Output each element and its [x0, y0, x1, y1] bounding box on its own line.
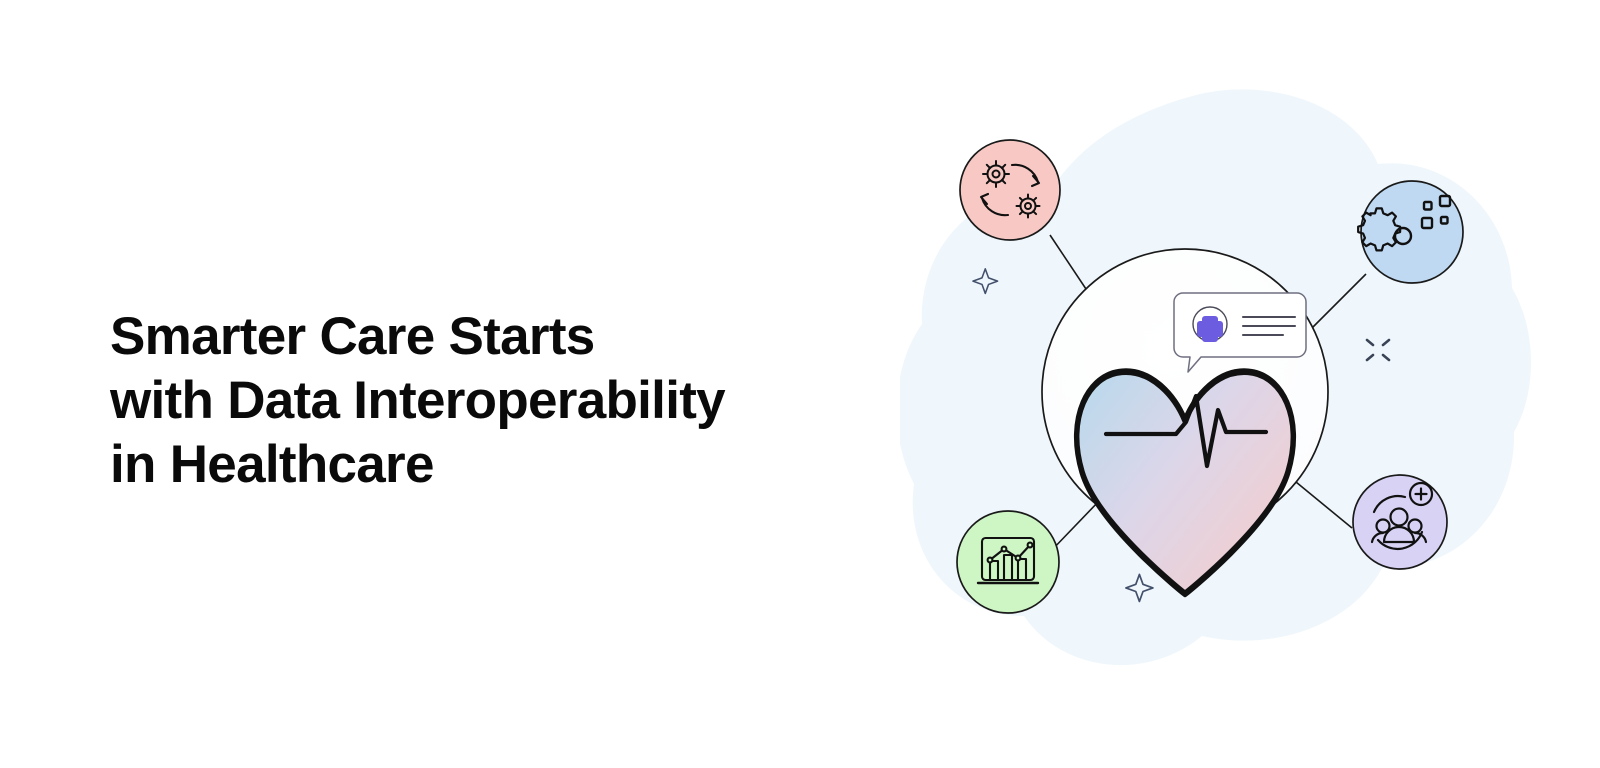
node-patients[interactable] — [1353, 475, 1447, 569]
node-analytics[interactable] — [957, 511, 1059, 613]
hero-copy: Smarter Care Starts with Data Interopera… — [110, 305, 810, 497]
node-sync-gears[interactable] — [960, 140, 1060, 240]
hero-section: Smarter Care Starts with Data Interopera… — [0, 0, 1600, 768]
hero-illustration — [900, 60, 1540, 710]
illustration-svg — [900, 60, 1540, 710]
page-title: Smarter Care Starts with Data Interopera… — [110, 305, 810, 497]
